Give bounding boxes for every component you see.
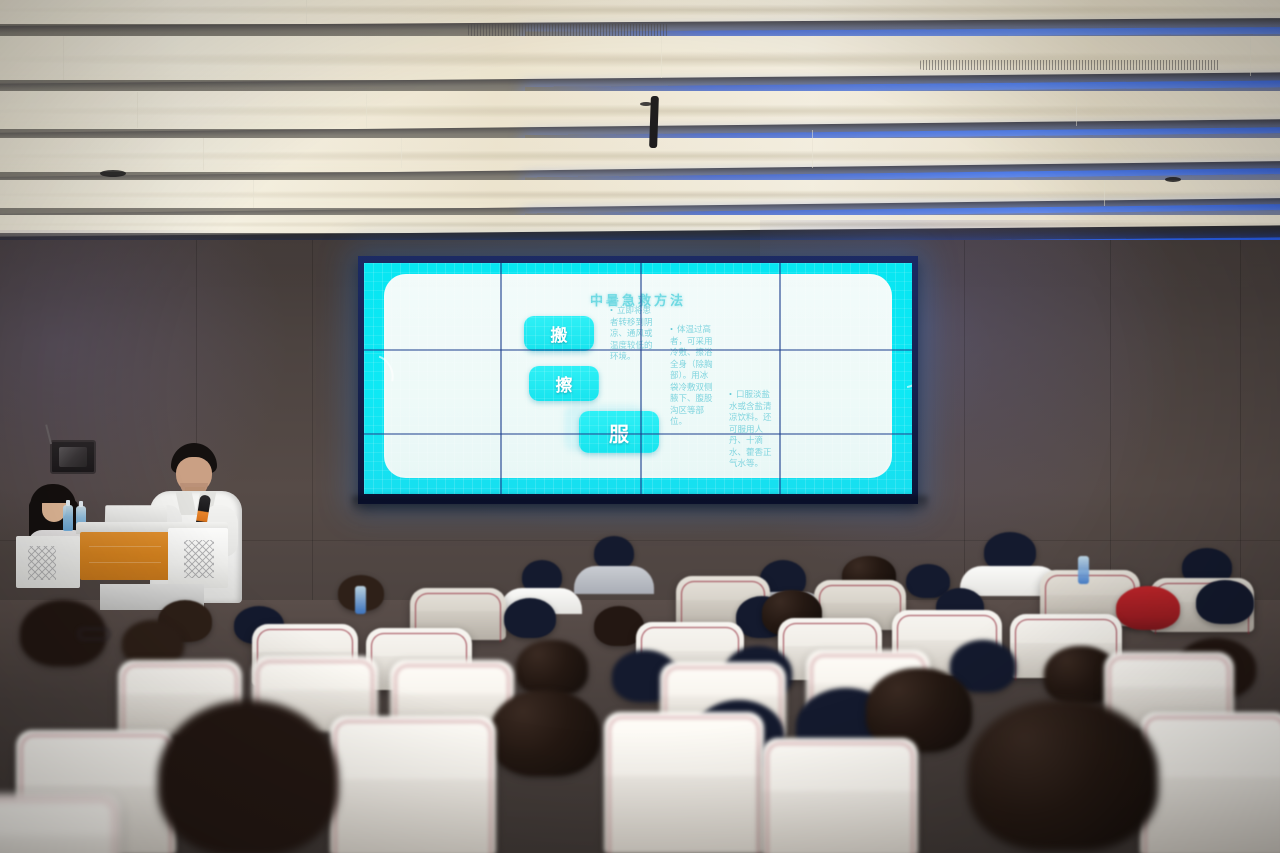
suspension-wire xyxy=(401,138,402,168)
screen-drop-shadow xyxy=(352,496,928,512)
slide-bullet-column-3: •口服淡盐水或含盐清凉饮料。还可服用人丹、十滴水、藿香正气水等。 xyxy=(729,389,773,470)
speaker-grille xyxy=(59,447,87,467)
audience-seat xyxy=(1140,712,1280,853)
panel-seam-horizontal xyxy=(364,433,912,435)
podium-speaker-grille xyxy=(184,540,214,578)
panel-seam-vertical xyxy=(640,263,642,494)
panel-seam-horizontal xyxy=(364,349,912,351)
lecture-hall-scene: 中暑急救方法 搬 擦 服 •立即将患者转移到阴凉、通风或温度较低的环境。 •体温… xyxy=(0,0,1280,853)
wood-grain xyxy=(89,546,161,547)
bullet-marker: • xyxy=(670,324,677,336)
water-bottle xyxy=(1078,556,1089,584)
attendee-head-red-hair xyxy=(1116,586,1180,630)
slide-bullet-column-2: •体温过高者，可采用冷敷、擦浴全身（除胸部）。用冰袋冷敷双侧腋下、腹股沟区等部位… xyxy=(670,324,714,428)
slide-tag-fu: 服 xyxy=(579,411,659,453)
suspension-wire xyxy=(1076,92,1077,126)
wood-grain xyxy=(89,562,161,563)
audience-seat xyxy=(604,712,764,853)
wall-speaker xyxy=(50,440,96,474)
water-bottle xyxy=(63,505,73,531)
audience-seat xyxy=(0,794,120,853)
screen-surface[interactable]: 中暑急救方法 搬 擦 服 •立即将患者转移到阴凉、通风或温度较低的环境。 •体温… xyxy=(364,263,912,494)
ceiling-speaker xyxy=(1165,177,1181,182)
suspension-wire xyxy=(1104,180,1105,206)
attendee-head xyxy=(490,690,600,776)
bullet-text: 立即将患者转移到阴凉、通风或温度较低的环境。 xyxy=(610,305,653,361)
attendee-head xyxy=(594,536,634,570)
bullet-text: 体温过高者，可采用冷敷、擦浴全身（除胸部）。用冰袋冷敷双侧腋下、腹股沟区等部位。 xyxy=(670,324,713,426)
video-wall[interactable]: 中暑急救方法 搬 擦 服 •立即将患者转移到阴凉、通风或温度较低的环境。 •体温… xyxy=(358,256,918,504)
bullet-marker: • xyxy=(610,305,617,317)
attendee-head xyxy=(968,700,1158,850)
attendee-head xyxy=(504,598,556,638)
podium-wood-front xyxy=(80,532,170,580)
panel-seam-vertical xyxy=(500,263,502,494)
panel-seam-vertical xyxy=(779,263,781,494)
suspension-wire xyxy=(63,36,64,80)
suspension-wire xyxy=(203,138,204,170)
wall-panel-seam xyxy=(312,240,313,640)
podium-side-panel xyxy=(16,536,80,588)
ceiling xyxy=(0,0,1280,248)
suspension-wire xyxy=(253,180,254,208)
bullet-marker: • xyxy=(729,389,736,401)
screen-bezel: 中暑急救方法 搬 擦 服 •立即将患者转移到阴凉、通风或温度较低的环境。 •体温… xyxy=(358,256,918,504)
attendee-head xyxy=(516,640,588,696)
bullet-text: 口服淡盐水或含盐清凉饮料。还可服用人丹、十滴水、藿香正气水等。 xyxy=(729,389,772,468)
suspension-wire xyxy=(661,36,662,78)
attendee-shoulders xyxy=(574,566,654,594)
ceiling-mesh-panel xyxy=(468,24,668,36)
slide-tag-ca: 擦 xyxy=(529,366,599,401)
suspension-wire xyxy=(366,94,367,128)
attendee-head xyxy=(1196,580,1254,624)
slide-bullet-column-1: •立即将患者转移到阴凉、通风或温度较低的环境。 xyxy=(610,305,654,363)
podium-speaker-grille xyxy=(28,546,56,580)
suspension-wire xyxy=(812,130,813,168)
suspension-wire xyxy=(137,92,138,128)
audience-seat xyxy=(330,716,496,853)
suspension-wire xyxy=(1250,36,1251,76)
ceiling-speaker xyxy=(100,170,126,177)
ceiling-mesh-panel xyxy=(920,60,1220,70)
podium xyxy=(76,522,228,610)
eyeglasses-icon xyxy=(78,628,110,640)
water-bottle xyxy=(355,586,366,614)
attendee-head xyxy=(158,700,338,853)
audience-seat xyxy=(762,738,918,853)
slide-tag-ban: 搬 xyxy=(524,316,594,351)
suspension-wire xyxy=(306,0,307,24)
